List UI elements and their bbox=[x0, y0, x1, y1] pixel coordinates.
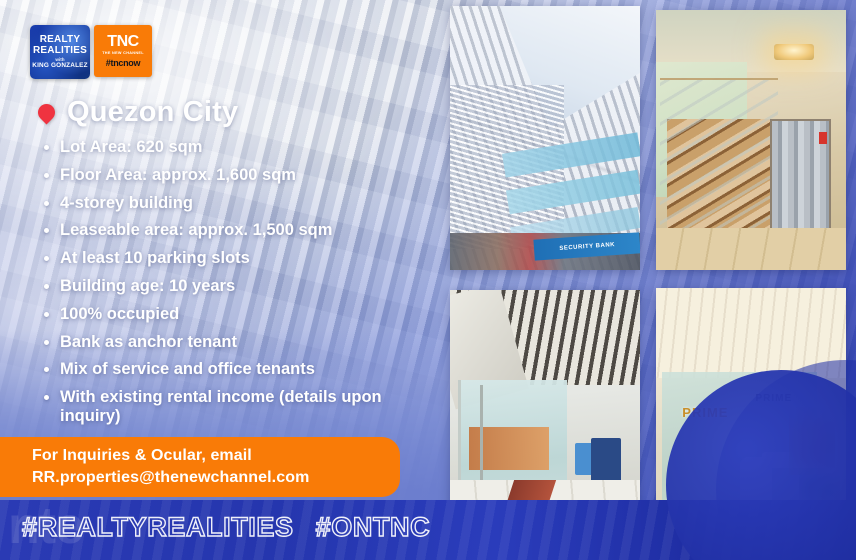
photo-stairwell-and-elevator-lobby bbox=[656, 10, 846, 270]
recycling-bin bbox=[591, 438, 621, 486]
photo-building-exterior-facade: SECURITY BANK bbox=[450, 6, 640, 270]
city-name: Quezon City bbox=[67, 96, 238, 129]
realty-logo-line2: REALITIES bbox=[33, 46, 87, 56]
list-item: 100% occupied bbox=[34, 305, 446, 324]
list-item: Floor Area: approx. 1,600 sqm bbox=[34, 166, 446, 185]
list-item: 4-storey building bbox=[34, 194, 446, 213]
list-item: Lot Area: 620 sqm bbox=[34, 138, 446, 157]
tnc-logo-tagline: THE NEW CHANNEL bbox=[102, 52, 144, 56]
list-item: At least 10 parking slots bbox=[34, 249, 446, 268]
realty-realities-logo[interactable]: REALTY REALITIES with KING GONZALEZ bbox=[30, 25, 90, 79]
lobby-floor bbox=[656, 228, 846, 270]
cta-line2[interactable]: RR.properties@thenewchannel.com bbox=[32, 467, 400, 489]
exit-sign-icon bbox=[819, 132, 827, 144]
location-title: Quezon City bbox=[38, 96, 238, 129]
tnc-logo-hashtag: #tncnow bbox=[106, 59, 140, 68]
realty-logo-line3: with bbox=[55, 58, 64, 63]
tnc-logo-wordmark: TNC bbox=[107, 34, 138, 50]
realty-logo-line1: REALTY bbox=[40, 35, 80, 45]
tnc-logo[interactable]: TNC THE NEW CHANNEL #tncnow bbox=[94, 25, 152, 77]
map-pin-icon bbox=[34, 100, 58, 124]
logo-group: REALTY REALITIES with KING GONZALEZ TNC … bbox=[30, 25, 152, 79]
list-item: With existing rental income (details upo… bbox=[34, 388, 446, 427]
realty-logo-line4: KING GONZALEZ bbox=[32, 63, 88, 69]
list-item: Mix of service and office tenants bbox=[34, 360, 446, 379]
list-item: Building age: 10 years bbox=[34, 277, 446, 296]
contact-cta-banner[interactable]: For Inquiries & Ocular, email RR.propert… bbox=[0, 437, 400, 497]
glass-railing bbox=[660, 78, 778, 231]
hashtag-realtyrealities: #REALTYREALITIES bbox=[22, 512, 294, 542]
cta-line1: For Inquiries & Ocular, email bbox=[32, 445, 400, 467]
list-item: Bank as anchor tenant bbox=[34, 333, 446, 352]
list-item: Leaseable area: approx. 1,500 sqm bbox=[34, 221, 446, 240]
poster-canvas: REALTY REALITIES with KING GONZALEZ TNC … bbox=[0, 0, 856, 560]
wall-lamp bbox=[774, 44, 814, 60]
feature-list: Lot Area: 620 sqm Floor Area: approx. 1,… bbox=[34, 138, 446, 435]
footer-hashtags: #REALTYREALITIES#ONTNC bbox=[22, 512, 522, 543]
hashtag-ontnc: #ONTNC bbox=[316, 512, 431, 542]
